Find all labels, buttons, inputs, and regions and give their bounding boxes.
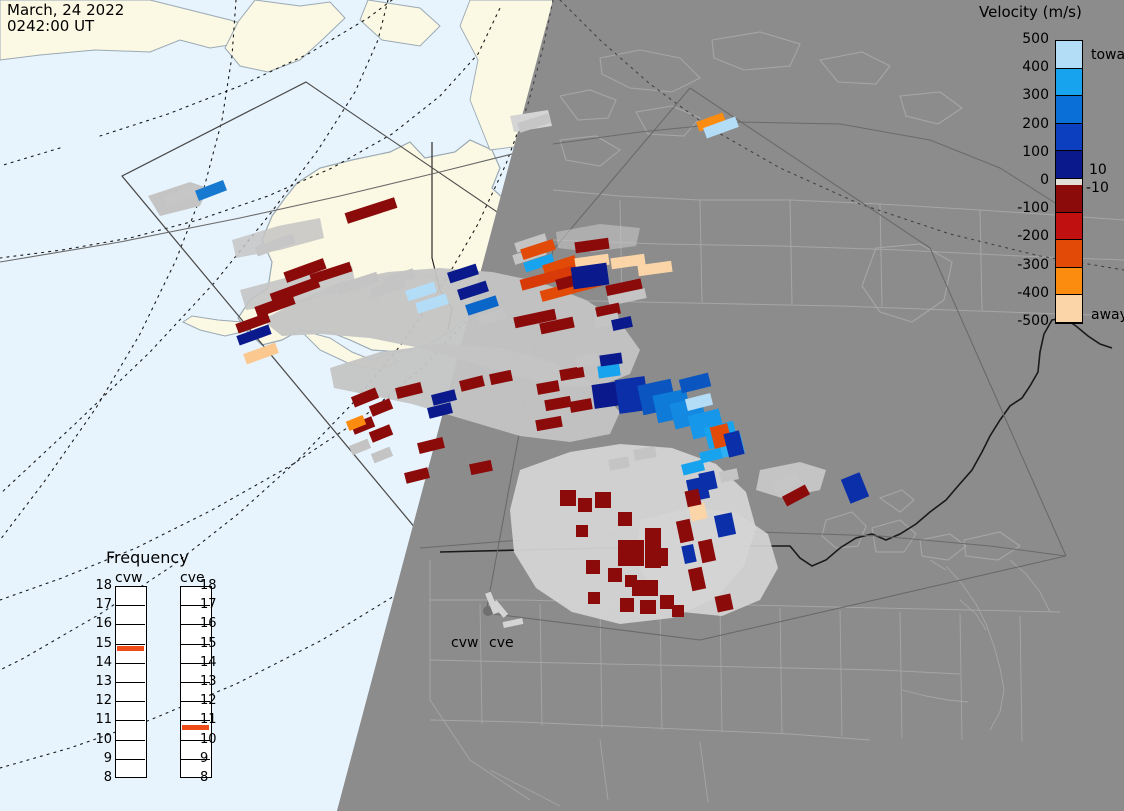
radar-cell — [715, 594, 734, 613]
frequency-cell — [116, 702, 145, 721]
colorbar-tick-label: 400 — [1005, 59, 1049, 75]
radar-cell — [417, 437, 445, 454]
colorbar-gradient — [1055, 40, 1083, 324]
colorbar-tick-label: 500 — [1005, 31, 1049, 47]
radar-cell — [698, 471, 717, 492]
radar-cell — [618, 512, 632, 526]
frequency-cell — [116, 683, 145, 702]
radar-cell — [427, 402, 453, 418]
colorbar-tick-label: -500 — [1005, 313, 1049, 329]
radar-cell — [489, 370, 513, 385]
colorbar-tick-label: 0 — [1005, 172, 1049, 188]
colorbar-segment — [1056, 295, 1082, 323]
frequency-tick-label: 13 — [200, 674, 222, 689]
frequency-tick-label: 16 — [90, 616, 112, 631]
colorbar-segment — [1056, 213, 1082, 241]
radar-cell — [345, 197, 398, 224]
colorbar-tick-label: 300 — [1005, 87, 1049, 103]
frequency-tick-label: 11 — [200, 712, 222, 727]
radar-cell — [574, 238, 609, 254]
radar-cell — [560, 490, 576, 506]
frequency-tick-label: 12 — [90, 693, 112, 708]
radar-cell — [395, 382, 423, 399]
radar-cell — [719, 468, 739, 483]
radar-cell — [633, 446, 657, 461]
frequency-tick-label: 14 — [90, 655, 112, 670]
colorbar-segment — [1056, 185, 1082, 213]
frequency-bar-cvw — [115, 586, 147, 778]
radar-cell — [371, 447, 393, 464]
timestamp-time: 0242:00 UT — [7, 17, 94, 35]
colorbar-title: Velocity (m/s) — [979, 3, 1082, 21]
radar-cell — [457, 281, 489, 301]
colorbar-segment — [1056, 69, 1082, 97]
frequency-tick-label: 14 — [200, 655, 222, 670]
radar-cell — [618, 540, 644, 566]
colorbar-tick-label: -200 — [1005, 228, 1049, 244]
frequency-tick-label: 15 — [200, 636, 222, 651]
radar-cell — [714, 512, 736, 537]
colorbar-segment — [1056, 240, 1082, 268]
radar-cell — [650, 548, 668, 566]
frequency-radar-name-cvw: cvw — [115, 570, 142, 586]
colorbar-away-label: away — [1091, 307, 1124, 323]
frequency-marker — [117, 646, 144, 651]
radar-velocity-map: March, 24 20220242:00 UT Velocity (m/s) … — [0, 0, 1124, 811]
radar-cell — [535, 416, 563, 431]
radar-cell — [608, 456, 630, 470]
radar-site-label-cve: cve — [489, 635, 514, 651]
radar-cell — [586, 560, 600, 574]
frequency-tick-label: 18 — [90, 578, 112, 593]
frequency-tick-label: 18 — [200, 578, 222, 593]
colorbar-tick-label: -100 — [1005, 200, 1049, 216]
colorbar-lower-threshold: -10 — [1086, 180, 1109, 196]
radar-cell — [243, 343, 279, 365]
frequency-cell — [116, 625, 145, 644]
radar-cell — [569, 398, 593, 413]
radar-cell — [447, 264, 479, 284]
colorbar-segment — [1056, 124, 1082, 152]
colorbar-upper-threshold: 10 — [1089, 162, 1107, 178]
frequency-tick-label: 15 — [90, 636, 112, 651]
radar-cell — [576, 525, 588, 537]
radar-cell — [684, 489, 701, 508]
radar-cell — [349, 439, 371, 456]
colorbar-tick-label: 100 — [1005, 144, 1049, 160]
radar-cell — [672, 605, 684, 617]
frequency-cell — [116, 741, 145, 760]
frequency-cell — [116, 721, 145, 740]
frequency-tick-label: 12 — [200, 693, 222, 708]
frequency-cell — [116, 664, 145, 683]
frequency-tick-label: 9 — [200, 751, 222, 766]
radar-velocity-cells — [0, 0, 1124, 811]
frequency-tick-label: 10 — [90, 732, 112, 747]
colorbar-tick-label: -300 — [1005, 257, 1049, 273]
colorbar-segment — [1056, 96, 1082, 124]
frequency-tick-label: 8 — [200, 770, 222, 785]
radar-cell — [608, 568, 622, 582]
radar-cell — [195, 180, 227, 201]
radar-cell — [571, 263, 610, 290]
radar-cell — [369, 398, 394, 416]
radar-cell — [164, 184, 200, 206]
radar-cell — [679, 373, 711, 394]
frequency-cell — [116, 606, 145, 625]
frequency-tick-label: 13 — [90, 674, 112, 689]
frequency-tick-label: 8 — [90, 770, 112, 785]
radar-cell — [404, 467, 430, 483]
radar-cell — [459, 375, 485, 391]
radar-cell — [254, 233, 295, 256]
colorbar-tick-label: -400 — [1005, 285, 1049, 301]
frequency-tick-label: 17 — [200, 597, 222, 612]
radar-cell — [578, 498, 592, 512]
frequency-legend-title: Frequency — [106, 548, 189, 567]
radar-cell — [517, 113, 551, 132]
radar-cell — [544, 396, 572, 411]
frequency-tick-label: 17 — [90, 597, 112, 612]
frequency-tick-label: 16 — [200, 616, 222, 631]
radar-site-label-cvw: cvw — [451, 635, 478, 651]
frequency-tick-label: 11 — [90, 712, 112, 727]
radar-cell — [681, 544, 696, 564]
frequency-cell — [116, 587, 145, 606]
timestamp-block: March, 24 20220242:00 UT — [7, 2, 124, 34]
colorbar-toward-label: toward — [1091, 47, 1124, 63]
radar-cell — [688, 567, 706, 591]
colorbar-segment — [1056, 151, 1082, 179]
colorbar-segment — [1056, 41, 1082, 69]
radar-cell — [595, 492, 611, 508]
colorbar-segment — [1056, 268, 1082, 296]
radar-cell — [841, 472, 869, 504]
radar-cell — [632, 580, 658, 596]
radar-cell — [620, 598, 634, 612]
frequency-tick-label: 10 — [200, 732, 222, 747]
radar-cell — [575, 353, 599, 368]
frequency-cell — [116, 760, 145, 779]
radar-cell — [469, 460, 493, 475]
radar-cell — [588, 592, 600, 604]
radar-cell — [676, 519, 694, 543]
radar-cell — [536, 380, 560, 395]
radar-cell — [640, 600, 656, 614]
radar-cell — [559, 366, 585, 381]
frequency-tick-label: 9 — [90, 751, 112, 766]
radar-cell — [698, 539, 716, 563]
colorbar-tick-label: 200 — [1005, 116, 1049, 132]
